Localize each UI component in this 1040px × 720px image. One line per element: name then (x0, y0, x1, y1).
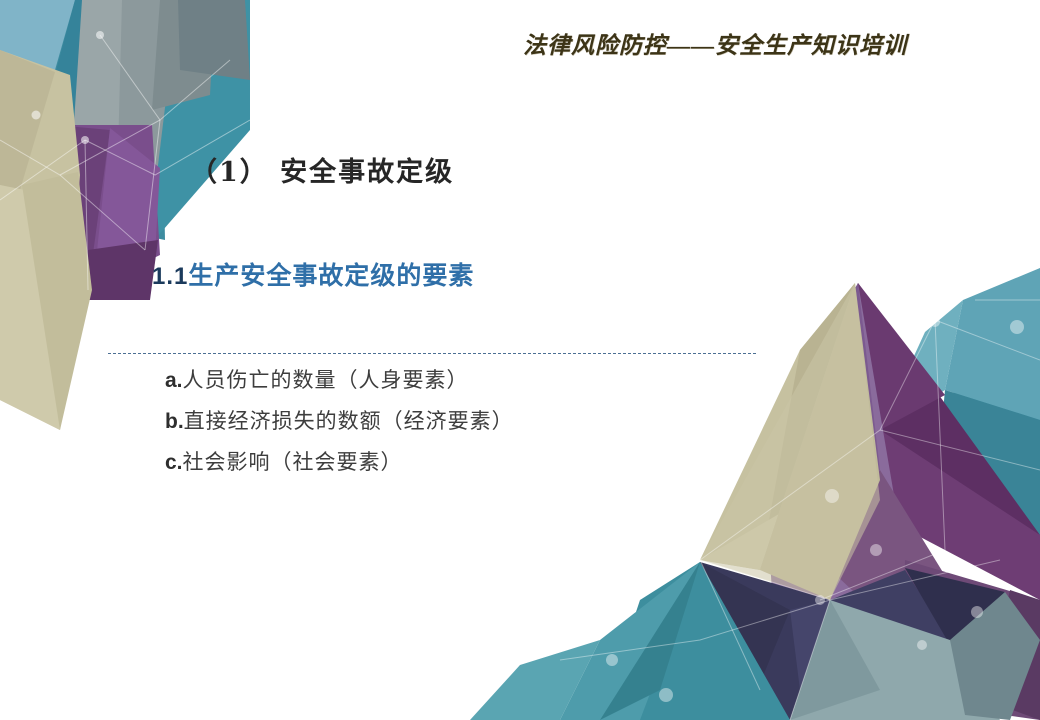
shape-r-purple-5 (985, 590, 1040, 720)
shape-lightblue-2 (145, 0, 245, 120)
shape-khaki-4 (22, 172, 92, 430)
shape-r-dkpurple-3 (850, 430, 1040, 600)
subsection-number: 1.1 (152, 263, 188, 290)
shape-r-navy-5 (905, 568, 1005, 645)
shape-teal-1 (15, 0, 165, 240)
header-title: 法律风险防控——安全生产知识培训 (500, 26, 930, 60)
shape-r-teal-6 (560, 562, 700, 720)
shape-r-teal-8 (600, 562, 700, 720)
list-item-marker: b. (165, 410, 184, 433)
shape-r-navy-4 (830, 570, 950, 655)
shape-r-teal-2 (945, 268, 1040, 420)
shape-r-navy-2 (700, 562, 790, 720)
shape-gray-3 (152, 0, 215, 110)
list-item: c.社会影响（社会要素） (165, 442, 785, 483)
subsection-heading: 1.1生产安全事故定级的要素 (152, 256, 474, 292)
shape-r-sage-3 (950, 592, 1040, 720)
decoration-nodes-left (32, 31, 105, 144)
shape-lightblue-1 (0, 0, 240, 255)
shape-purple-4 (80, 240, 158, 300)
shape-khaki-2 (0, 50, 55, 190)
shape-r-teal-1 (935, 268, 1040, 560)
slide-canvas: 法律风险防控——安全生产知识培训 （1） 安全事故定级 1.1生产安全事故定级的… (0, 0, 1040, 720)
shape-khaki-1 (0, 50, 80, 430)
dashed-divider (108, 353, 756, 354)
list-item-label: 直接经济损失的数额（经济要素） (184, 409, 514, 433)
shape-khaki-3 (0, 175, 68, 430)
shape-r-dkpurple-2 (830, 283, 945, 430)
shape-r-teal-3 (880, 300, 963, 430)
shape-r-dkpurple-1 (830, 283, 1040, 600)
shape-r-navy-3 (790, 600, 850, 690)
shape-r-teal-4 (935, 390, 1040, 560)
subsection-text: 生产安全事故定级的要素 (188, 261, 474, 290)
shape-purple-3 (95, 128, 160, 270)
shape-r-teal-5 (600, 562, 790, 720)
shape-purple-1 (55, 125, 160, 290)
shape-r-navy-1 (700, 562, 830, 720)
page-title: （1） 安全事故定级 (190, 150, 454, 189)
shape-r-teal-7 (470, 640, 600, 720)
list-item-label: 人员伤亡的数量（人身要素） (183, 368, 469, 392)
shape-gray-4 (178, 0, 250, 80)
list-item-label: 社会影响（社会要素） (183, 450, 403, 474)
shape-r-purple-3 (820, 470, 960, 640)
shape-teal-3 (150, 0, 250, 245)
shape-r-purple-2 (790, 283, 880, 520)
shape-r-purple-4 (900, 560, 1040, 720)
shape-teal-2 (20, 0, 120, 210)
list-item-marker: c. (165, 451, 183, 474)
shape-gray-2 (116, 0, 178, 248)
shape-r-purple-1 (770, 283, 905, 720)
bullet-list: a.人员伤亡的数量（人身要素） b.直接经济损失的数额（经济要素） c.社会影响… (165, 360, 785, 483)
shape-purple-2 (55, 125, 110, 290)
shape-gray-1 (68, 0, 175, 245)
shape-r-sage-2 (790, 600, 880, 720)
list-item-marker: a. (165, 369, 183, 392)
list-item: a.人员伤亡的数量（人身要素） (165, 360, 785, 401)
list-item: b.直接经济损失的数额（经济要素） (165, 401, 785, 442)
shape-teal-4 (0, 100, 140, 250)
shape-r-sage-1 (790, 600, 1000, 720)
